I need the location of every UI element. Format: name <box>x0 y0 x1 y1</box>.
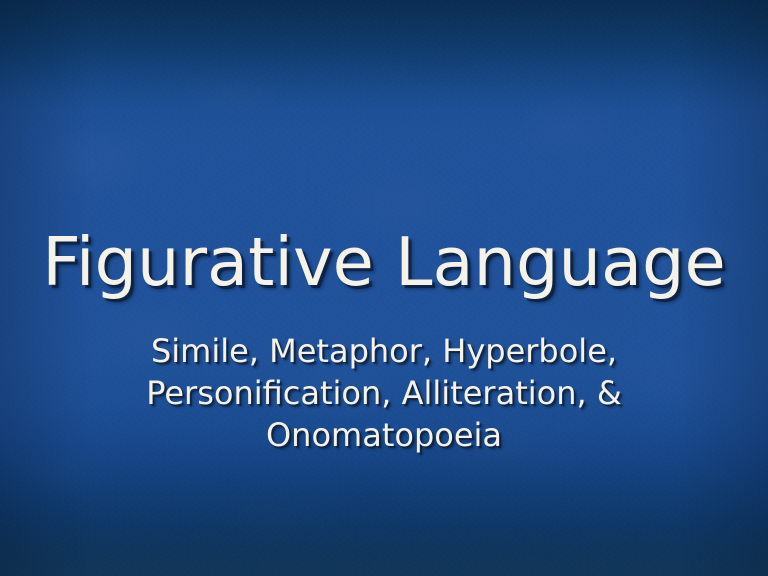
presentation-slide: Figurative Language Simile, Metaphor, Hy… <box>0 0 768 576</box>
slide-content: Figurative Language Simile, Metaphor, Hy… <box>0 0 768 576</box>
slide-subtitle: Simile, Metaphor, Hyperbole, Personifica… <box>0 330 768 456</box>
subtitle-line-2: Personification, Alliteration, & <box>0 372 768 414</box>
subtitle-line-3: Onomatopoeia <box>0 414 768 456</box>
slide-title: Figurative Language <box>0 227 768 298</box>
subtitle-line-1: Simile, Metaphor, Hyperbole, <box>0 330 768 372</box>
